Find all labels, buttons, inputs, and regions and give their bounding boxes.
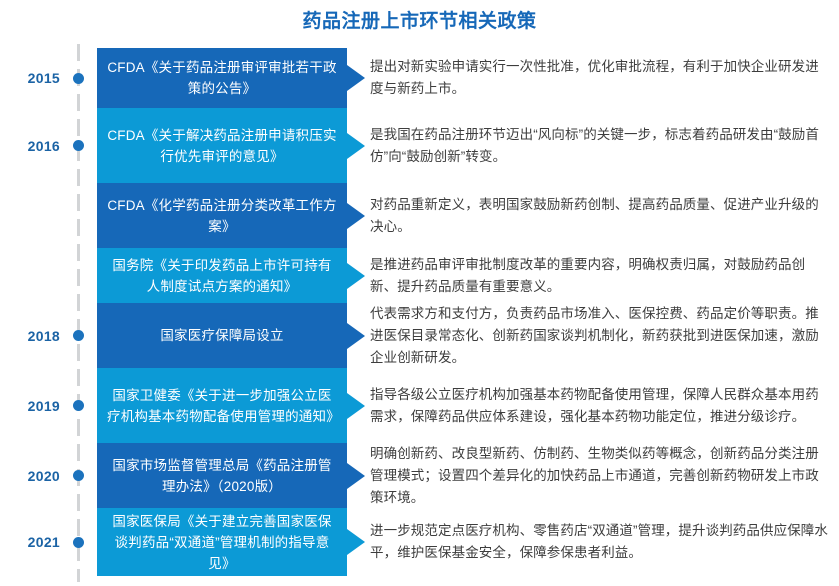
policy-title: CFDA《关于药品注册审评审批若干政策的公告》 (107, 57, 337, 99)
policy-description: 提出对新实验申请实行一次性批准，优化审批流程，有利于加快企业研发进度与新药上市。 (370, 56, 828, 100)
year-label-2015: 2015 (8, 71, 60, 85)
policy-description: 代表需求方和支付方，负责药品市场准入、医保控费、药品定价等职责。推进医保目录常态… (370, 303, 828, 369)
timeline-row: 国务院《关于印发药品上市许可持有人制度试点方案的通知》是推进药品审评审批制度改革… (0, 248, 839, 303)
timeline-row: 2021国家医保局《关于建立完善国家医保谈判药品“双通道”管理机制的指导意见》进… (0, 508, 839, 576)
policy-box[interactable]: 国务院《关于印发药品上市许可持有人制度试点方案的通知》 (97, 248, 347, 303)
policy-description: 是我国在药品注册环节迈出“风向标”的关键一步，标志着药品研发由“鼓励首仿”向“鼓… (370, 124, 828, 168)
policy-box[interactable]: CFDA《化学药品注册分类改革工作方案》 (97, 183, 347, 248)
policy-box[interactable]: 国家医疗保障局设立 (97, 303, 347, 368)
policy-title: 国家医保局《关于建立完善国家医保谈判药品“双通道”管理机制的指导意见》 (107, 511, 337, 574)
policy-box[interactable]: 国家市场监督管理总局《药品注册管理办法》（2020版） (97, 443, 347, 508)
arrow-right-icon (347, 203, 365, 229)
timeline-dot-2020 (73, 470, 84, 481)
year-label-2020: 2020 (8, 469, 60, 483)
timeline-dot-2021 (73, 537, 84, 548)
policy-description: 明确创新药、改良型新药、仿制药、生物类似药等概念，创新药品分类注册管理模式；设置… (370, 443, 828, 509)
arrow-right-icon (347, 65, 365, 91)
timeline-row: 2018国家医疗保障局设立代表需求方和支付方，负责药品市场准入、医保控费、药品定… (0, 303, 839, 368)
timeline-rows: 2015CFDA《关于药品注册审评审批若干政策的公告》提出对新实验申请实行一次性… (0, 48, 839, 576)
timeline-dot-2019 (73, 400, 84, 411)
policy-description: 对药品重新定义，表明国家鼓励新药创制、提高药品质量、促进产业升级的决心。 (370, 194, 828, 238)
policy-description: 是推进药品审评审批制度改革的重要内容，明确权责归属，对鼓励药品创新、提升药品质量… (370, 254, 828, 298)
arrow-right-icon (347, 529, 365, 555)
policy-description: 指导各级公立医疗机构加强基本药物配备使用管理，保障人民群众基本用药需求，保障药品… (370, 384, 828, 428)
policy-title: 国家医疗保障局设立 (160, 325, 283, 346)
arrow-right-icon (347, 393, 365, 419)
policy-timeline-infographic: 药品注册上市环节相关政策 2015CFDA《关于药品注册审评审批若干政策的公告》… (0, 0, 839, 586)
arrow-right-icon (347, 263, 365, 289)
policy-title: 国家市场监督管理总局《药品注册管理办法》（2020版） (107, 455, 337, 497)
policy-box[interactable]: 国家卫健委《关于进一步加强公立医疗机构基本药物配备使用管理的通知》 (97, 368, 347, 443)
arrow-right-icon (347, 133, 365, 159)
page-title: 药品注册上市环节相关政策 (0, 8, 839, 36)
policy-description: 进一步规范定点医疗机构、零售药店“双通道”管理，提升谈判药品供应保障水平，维护医… (370, 520, 828, 564)
arrow-right-icon (347, 323, 365, 349)
timeline-dot-2016 (73, 140, 84, 151)
timeline-row: 2015CFDA《关于药品注册审评审批若干政策的公告》提出对新实验申请实行一次性… (0, 48, 839, 108)
policy-title: 国家卫健委《关于进一步加强公立医疗机构基本药物配备使用管理的通知》 (107, 385, 337, 427)
policy-box[interactable]: CFDA《关于药品注册审评审批若干政策的公告》 (97, 48, 347, 108)
policy-title: 国务院《关于印发药品上市许可持有人制度试点方案的通知》 (107, 255, 337, 297)
timeline-row: 2020国家市场监督管理总局《药品注册管理办法》（2020版）明确创新药、改良型… (0, 443, 839, 508)
year-label-2018: 2018 (8, 329, 60, 343)
year-label-2019: 2019 (8, 399, 60, 413)
policy-title: CFDA《化学药品注册分类改革工作方案》 (107, 195, 337, 237)
policy-title: CFDA《关于解决药品注册申请积压实行优先审评的意见》 (107, 125, 337, 167)
timeline-dot-2015 (73, 73, 84, 84)
policy-box[interactable]: 国家医保局《关于建立完善国家医保谈判药品“双通道”管理机制的指导意见》 (97, 508, 347, 576)
timeline-dot-2018 (73, 330, 84, 341)
year-label-2016: 2016 (8, 139, 60, 153)
arrow-right-icon (347, 463, 365, 489)
policy-box[interactable]: CFDA《关于解决药品注册申请积压实行优先审评的意见》 (97, 108, 347, 183)
year-label-2021: 2021 (8, 535, 60, 549)
timeline-row: 2016CFDA《关于解决药品注册申请积压实行优先审评的意见》是我国在药品注册环… (0, 108, 839, 183)
timeline-row: 2019国家卫健委《关于进一步加强公立医疗机构基本药物配备使用管理的通知》指导各… (0, 368, 839, 443)
timeline-row: CFDA《化学药品注册分类改革工作方案》对药品重新定义，表明国家鼓励新药创制、提… (0, 183, 839, 248)
